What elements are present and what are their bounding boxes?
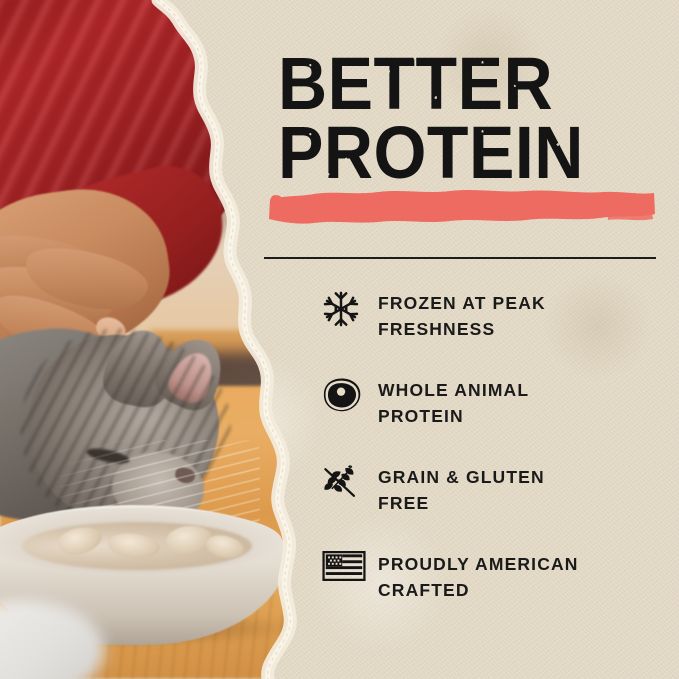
feature-item-protein: WHOLE ANIMAL PROTEIN [322, 375, 662, 433]
wheat-crossed-out-icon [322, 462, 378, 516]
feature-label-american: PROUDLY AMERICAN CRAFTED [378, 549, 579, 603]
feature-label-line-1: FROZEN AT PEAK [378, 293, 546, 313]
snowflake-icon [322, 288, 378, 342]
feature-label-line-2: FRESHNESS [378, 319, 495, 339]
feature-label-protein: WHOLE ANIMAL PROTEIN [378, 375, 529, 429]
horizontal-divider [264, 257, 656, 259]
headline-line-2-text: PROTEIN [278, 111, 584, 194]
american-flag-icon [322, 549, 378, 603]
steak-icon [322, 375, 378, 429]
feature-item-american: PROUDLY AMERICAN CRAFTED [322, 549, 662, 607]
feature-item-grain-free: GRAIN & GLUTEN FREE [322, 462, 662, 520]
feature-item-frozen: FROZEN AT PEAK FRESHNESS [322, 288, 662, 346]
feature-list: FROZEN AT PEAK FRESHNESS WHOLE ANIMAL PR… [322, 288, 662, 607]
headline: BETTER PROTEIN [278, 50, 668, 188]
feature-label-grain-free: GRAIN & GLUTEN FREE [378, 462, 545, 516]
feature-label-line-1: WHOLE ANIMAL [378, 380, 529, 400]
feature-label-line-2: CRAFTED [378, 580, 470, 600]
panel-content: BETTER PROTEIN [0, 0, 679, 679]
feature-label-line-1: GRAIN & GLUTEN [378, 467, 545, 487]
feature-label-frozen: FROZEN AT PEAK FRESHNESS [378, 288, 546, 342]
headline-line-1: BETTER [278, 50, 637, 119]
product-feature-panel: BETTER PROTEIN [0, 0, 679, 679]
feature-label-line-2: FREE [378, 493, 429, 513]
feature-label-line-1: PROUDLY AMERICAN [378, 554, 579, 574]
headline-line-2: PROTEIN [278, 119, 637, 188]
feature-label-line-2: PROTEIN [378, 406, 464, 426]
